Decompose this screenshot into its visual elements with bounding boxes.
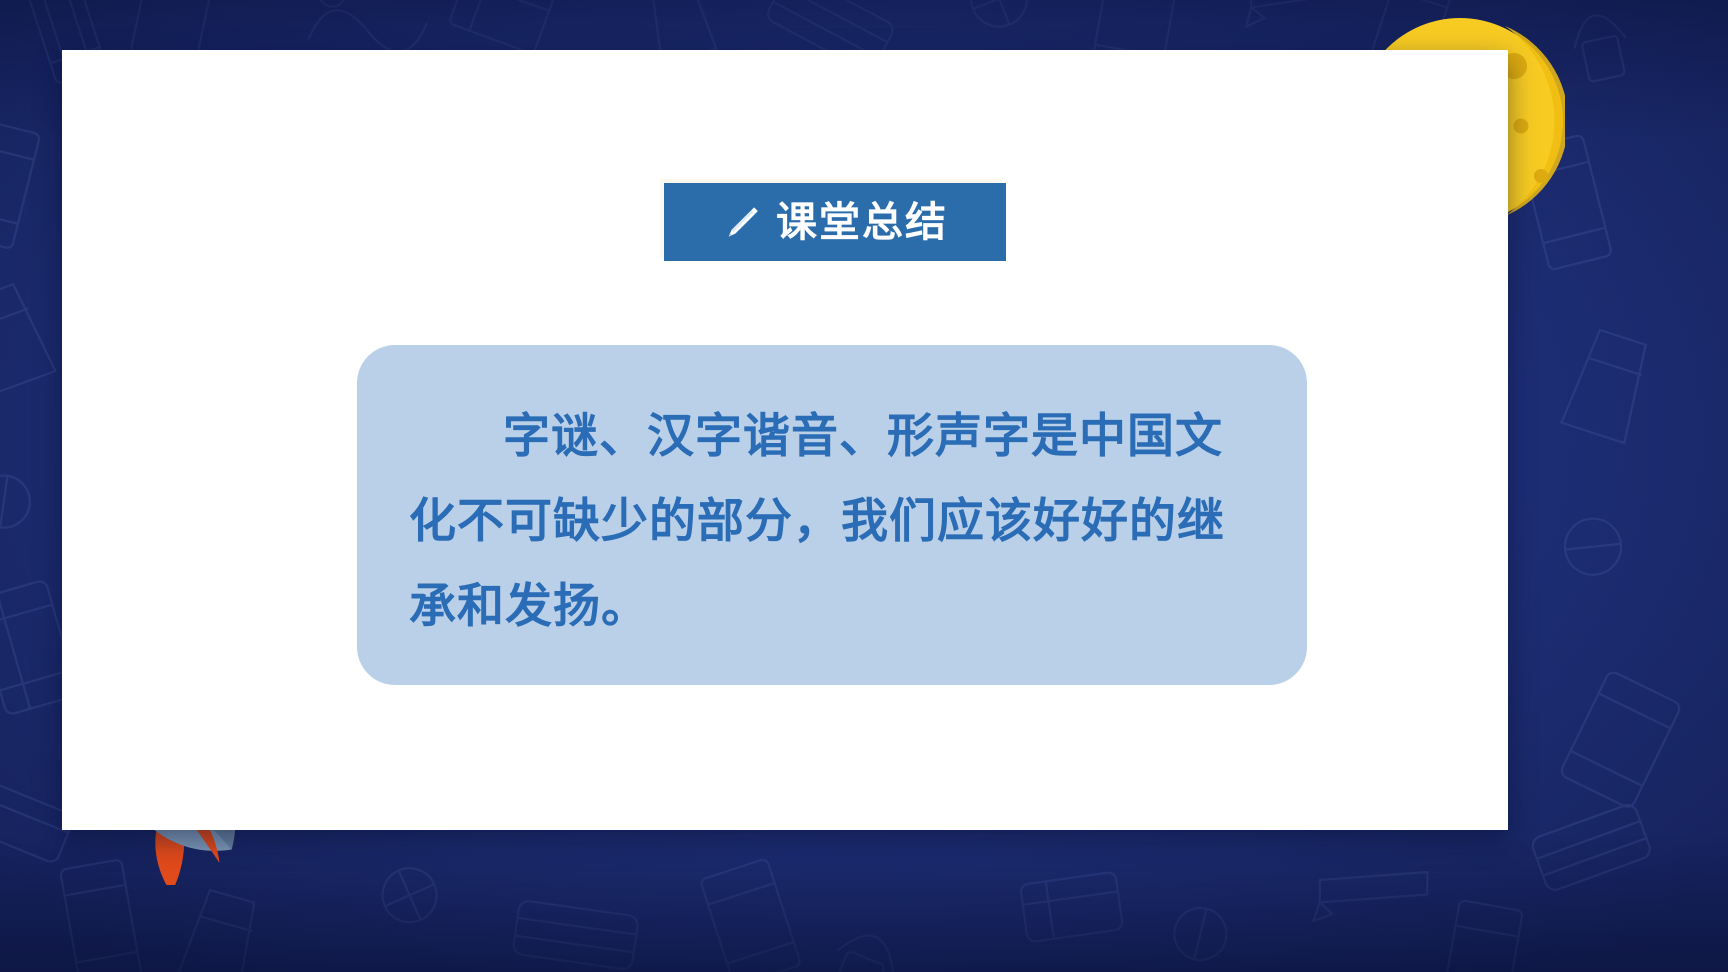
section-title-text: 课堂总结 bbox=[776, 202, 948, 243]
content-card: 课堂总结 字谜、汉字谐音、形声字是中国文化不可缺少的部分，我们应该好好的继承和发… bbox=[62, 50, 1508, 830]
slide-root: 课堂总结 字谜、汉字谐音、形声字是中国文化不可缺少的部分，我们应该好好的继承和发… bbox=[0, 0, 1728, 972]
summary-paragraph: 字谜、汉字谐音、形声字是中国文化不可缺少的部分，我们应该好好的继承和发扬。 bbox=[409, 393, 1255, 648]
pencil-icon bbox=[722, 202, 762, 242]
summary-text-box: 字谜、汉字谐音、形声字是中国文化不可缺少的部分，我们应该好好的继承和发扬。 bbox=[357, 345, 1307, 685]
section-title-banner: 课堂总结 bbox=[664, 183, 1006, 261]
